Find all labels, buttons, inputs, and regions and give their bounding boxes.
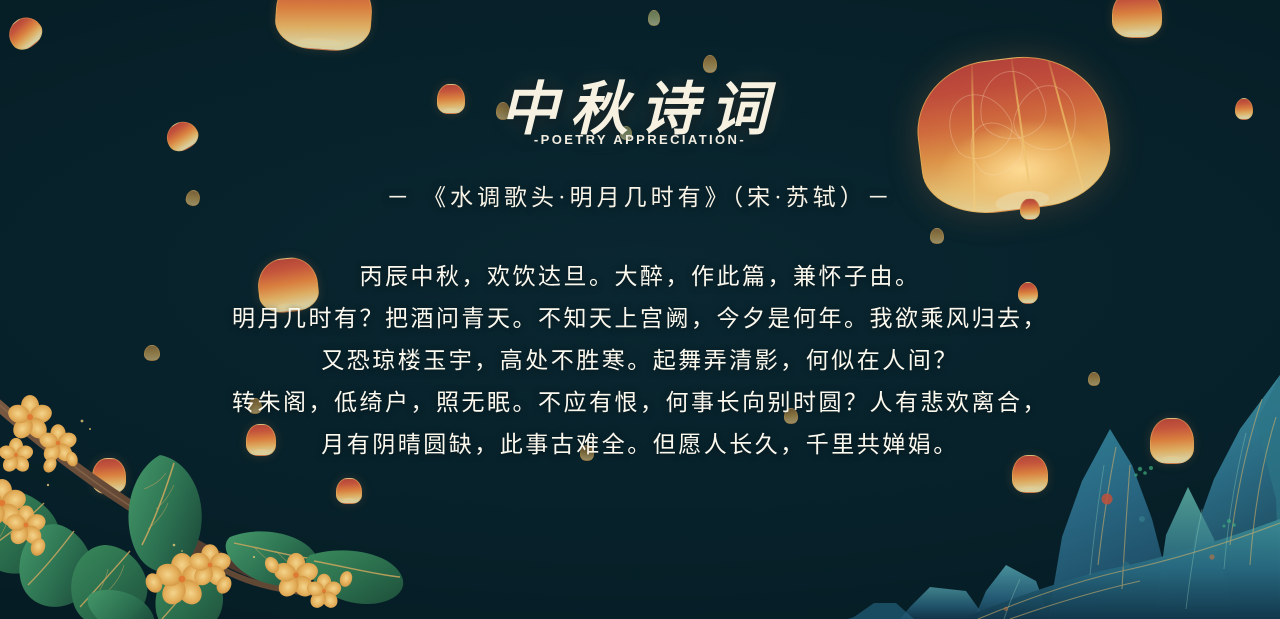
sky-lantern-icon: [273, 0, 374, 53]
sky-lantern-icon: [1018, 282, 1038, 304]
sky-lantern-icon: [437, 84, 465, 114]
sky-lantern-icon: [930, 228, 944, 244]
sky-lantern-icon: [2, 11, 47, 56]
sky-lantern-icon: [184, 189, 201, 208]
sky-lantern-icon: [620, 126, 632, 140]
sky-lantern-icon: [1112, 0, 1162, 38]
lantern-base: [994, 188, 1051, 215]
sky-lantern-icon: [161, 116, 203, 156]
sky-lantern-icon: [255, 255, 320, 315]
sky-lantern-icon: [580, 445, 594, 461]
sky-lantern-icon: [703, 55, 717, 73]
blue-green-mountains-illustration: [810, 369, 1280, 619]
sky-lantern-icon: [648, 10, 660, 26]
sky-lantern-icon: [144, 345, 160, 361]
poem-line: 明月几时有？把酒问青天。不知天上宫阙，今夕是何年。我欲乘风归去，: [0, 298, 1280, 340]
poem-line: 丙辰中秋，欢饮达旦。大醉，作此篇，兼怀子由。: [0, 256, 1280, 298]
poster-canvas: 中秋诗词 -POETRY APPRECIATION- － 《水调歌头·明月几时有…: [0, 0, 1280, 619]
sky-lantern-icon: [784, 408, 798, 424]
osmanthus-branch-illustration: [0, 369, 406, 619]
sky-lantern-icon: [496, 102, 510, 120]
sky-lantern-large-icon: [909, 47, 1116, 221]
sky-lantern-icon: [1235, 98, 1253, 120]
